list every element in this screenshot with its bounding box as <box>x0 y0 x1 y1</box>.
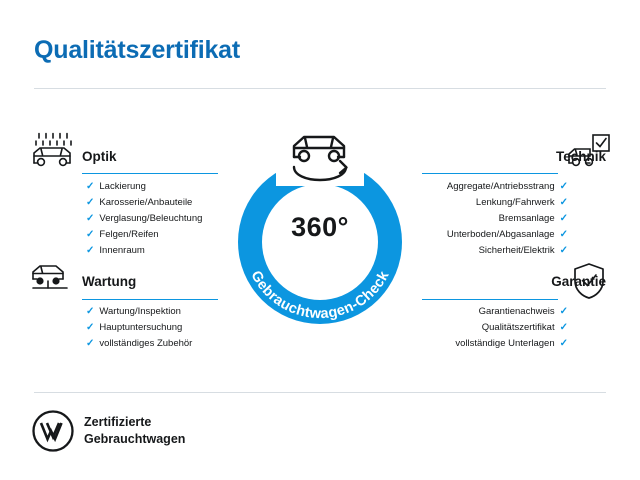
list-item-label: vollständiges Zubehör <box>99 336 192 352</box>
list-item-label: Karosserie/Anbauteile <box>99 195 192 211</box>
list-item: ✓ Innenraum <box>86 243 202 259</box>
section-heading-technik: Technik <box>556 149 606 164</box>
check-icon: ✓ <box>86 339 94 349</box>
list-item-label: Aggregate/Antriebsstrang <box>447 179 555 195</box>
list-item: Unterboden/Abgasanlage ✓ <box>404 227 568 243</box>
certificate-page: Qualitätszertifikat <box>0 0 640 480</box>
check-icon: ✓ <box>560 230 568 240</box>
list-item: Qualitätszertifikat ✓ <box>404 320 568 336</box>
check-icon: ✓ <box>86 323 94 333</box>
list-item: Lenkung/Fahrwerk ✓ <box>404 195 568 211</box>
check-icon: ✓ <box>86 214 94 224</box>
checklist-technik: Aggregate/Antriebsstrang ✓ Lenkung/Fahrw… <box>404 179 568 259</box>
list-item: ✓ Lackierung <box>86 179 202 195</box>
check-icon: ✓ <box>560 307 568 317</box>
section-rule-optik <box>82 173 218 174</box>
footer-divider <box>34 392 606 393</box>
list-item: ✓ Karosserie/Anbauteile <box>86 195 202 211</box>
section-heading-garantie: Garantie <box>551 274 606 289</box>
check-icon: ✓ <box>86 246 94 256</box>
section-heading-wartung: Wartung <box>82 274 136 289</box>
list-item-label: Garantienachweis <box>479 304 555 320</box>
section-rule-technik <box>422 173 558 174</box>
check-icon: ✓ <box>560 323 568 333</box>
list-item-label: Lackierung <box>99 179 145 195</box>
car-360-rotation-icon <box>278 124 362 186</box>
section-rule-garantie <box>422 299 558 300</box>
badge-arc-text: Gebrauchtwagen-Check <box>247 268 392 322</box>
list-item: ✓ Felgen/Reifen <box>86 227 202 243</box>
footer-line-1: Zertifizierte <box>84 414 185 431</box>
list-item-label: Wartung/Inspektion <box>99 304 181 320</box>
list-item-label: Qualitätszertifikat <box>482 320 555 336</box>
list-item-label: Bremsanlage <box>499 211 555 227</box>
checklist-optik: ✓ Lackierung ✓ Karosserie/Anbauteile ✓ V… <box>86 179 202 259</box>
check-badge: Gebrauchtwagen-Check 360° <box>216 118 424 326</box>
list-item: ✓ Hauptuntersuchung <box>86 320 192 336</box>
footer-line-2: Gebrauchtwagen <box>84 431 185 448</box>
list-item: Sicherheit/Elektrik ✓ <box>404 243 568 259</box>
check-icon: ✓ <box>560 182 568 192</box>
page-title: Qualitätszertifikat <box>34 36 240 65</box>
check-icon: ✓ <box>86 307 94 317</box>
checklist-garantie: Garantienachweis ✓ Qualitätszertifikat ✓… <box>404 304 568 352</box>
check-icon: ✓ <box>560 198 568 208</box>
badge-center-label: 360° <box>262 212 378 243</box>
checklist-wartung: ✓ Wartung/Inspektion ✓ Hauptuntersuchung… <box>86 304 192 352</box>
list-item-label: Innenraum <box>99 243 144 259</box>
list-item-label: Lenkung/Fahrwerk <box>476 195 555 211</box>
list-item: ✓ Verglasung/Beleuchtung <box>86 211 202 227</box>
list-item: Aggregate/Antriebsstrang ✓ <box>404 179 568 195</box>
check-icon: ✓ <box>86 182 94 192</box>
car-lift-icon <box>30 262 74 299</box>
title-divider <box>34 88 606 89</box>
check-icon: ✓ <box>560 246 568 256</box>
check-icon: ✓ <box>560 339 568 349</box>
list-item-label: vollständige Unterlagen <box>455 336 554 352</box>
list-item: ✓ vollständiges Zubehör <box>86 336 192 352</box>
car-wash-icon <box>30 132 74 173</box>
footer-text: Zertifizierte Gebrauchtwagen <box>84 414 185 448</box>
check-icon: ✓ <box>560 214 568 224</box>
list-item: Bremsanlage ✓ <box>404 211 568 227</box>
list-item-label: Felgen/Reifen <box>99 227 158 243</box>
list-item-label: Hauptuntersuchung <box>99 320 182 336</box>
check-icon: ✓ <box>86 230 94 240</box>
list-item: vollständige Unterlagen ✓ <box>404 336 568 352</box>
check-icon: ✓ <box>86 198 94 208</box>
list-item-label: Verglasung/Beleuchtung <box>99 211 202 227</box>
section-heading-optik: Optik <box>82 149 117 164</box>
list-item: ✓ Wartung/Inspektion <box>86 304 192 320</box>
section-rule-wartung <box>82 299 218 300</box>
list-item-label: Unterboden/Abgasanlage <box>447 227 555 243</box>
vw-logo <box>32 410 74 452</box>
list-item: Garantienachweis ✓ <box>404 304 568 320</box>
list-item-label: Sicherheit/Elektrik <box>479 243 555 259</box>
